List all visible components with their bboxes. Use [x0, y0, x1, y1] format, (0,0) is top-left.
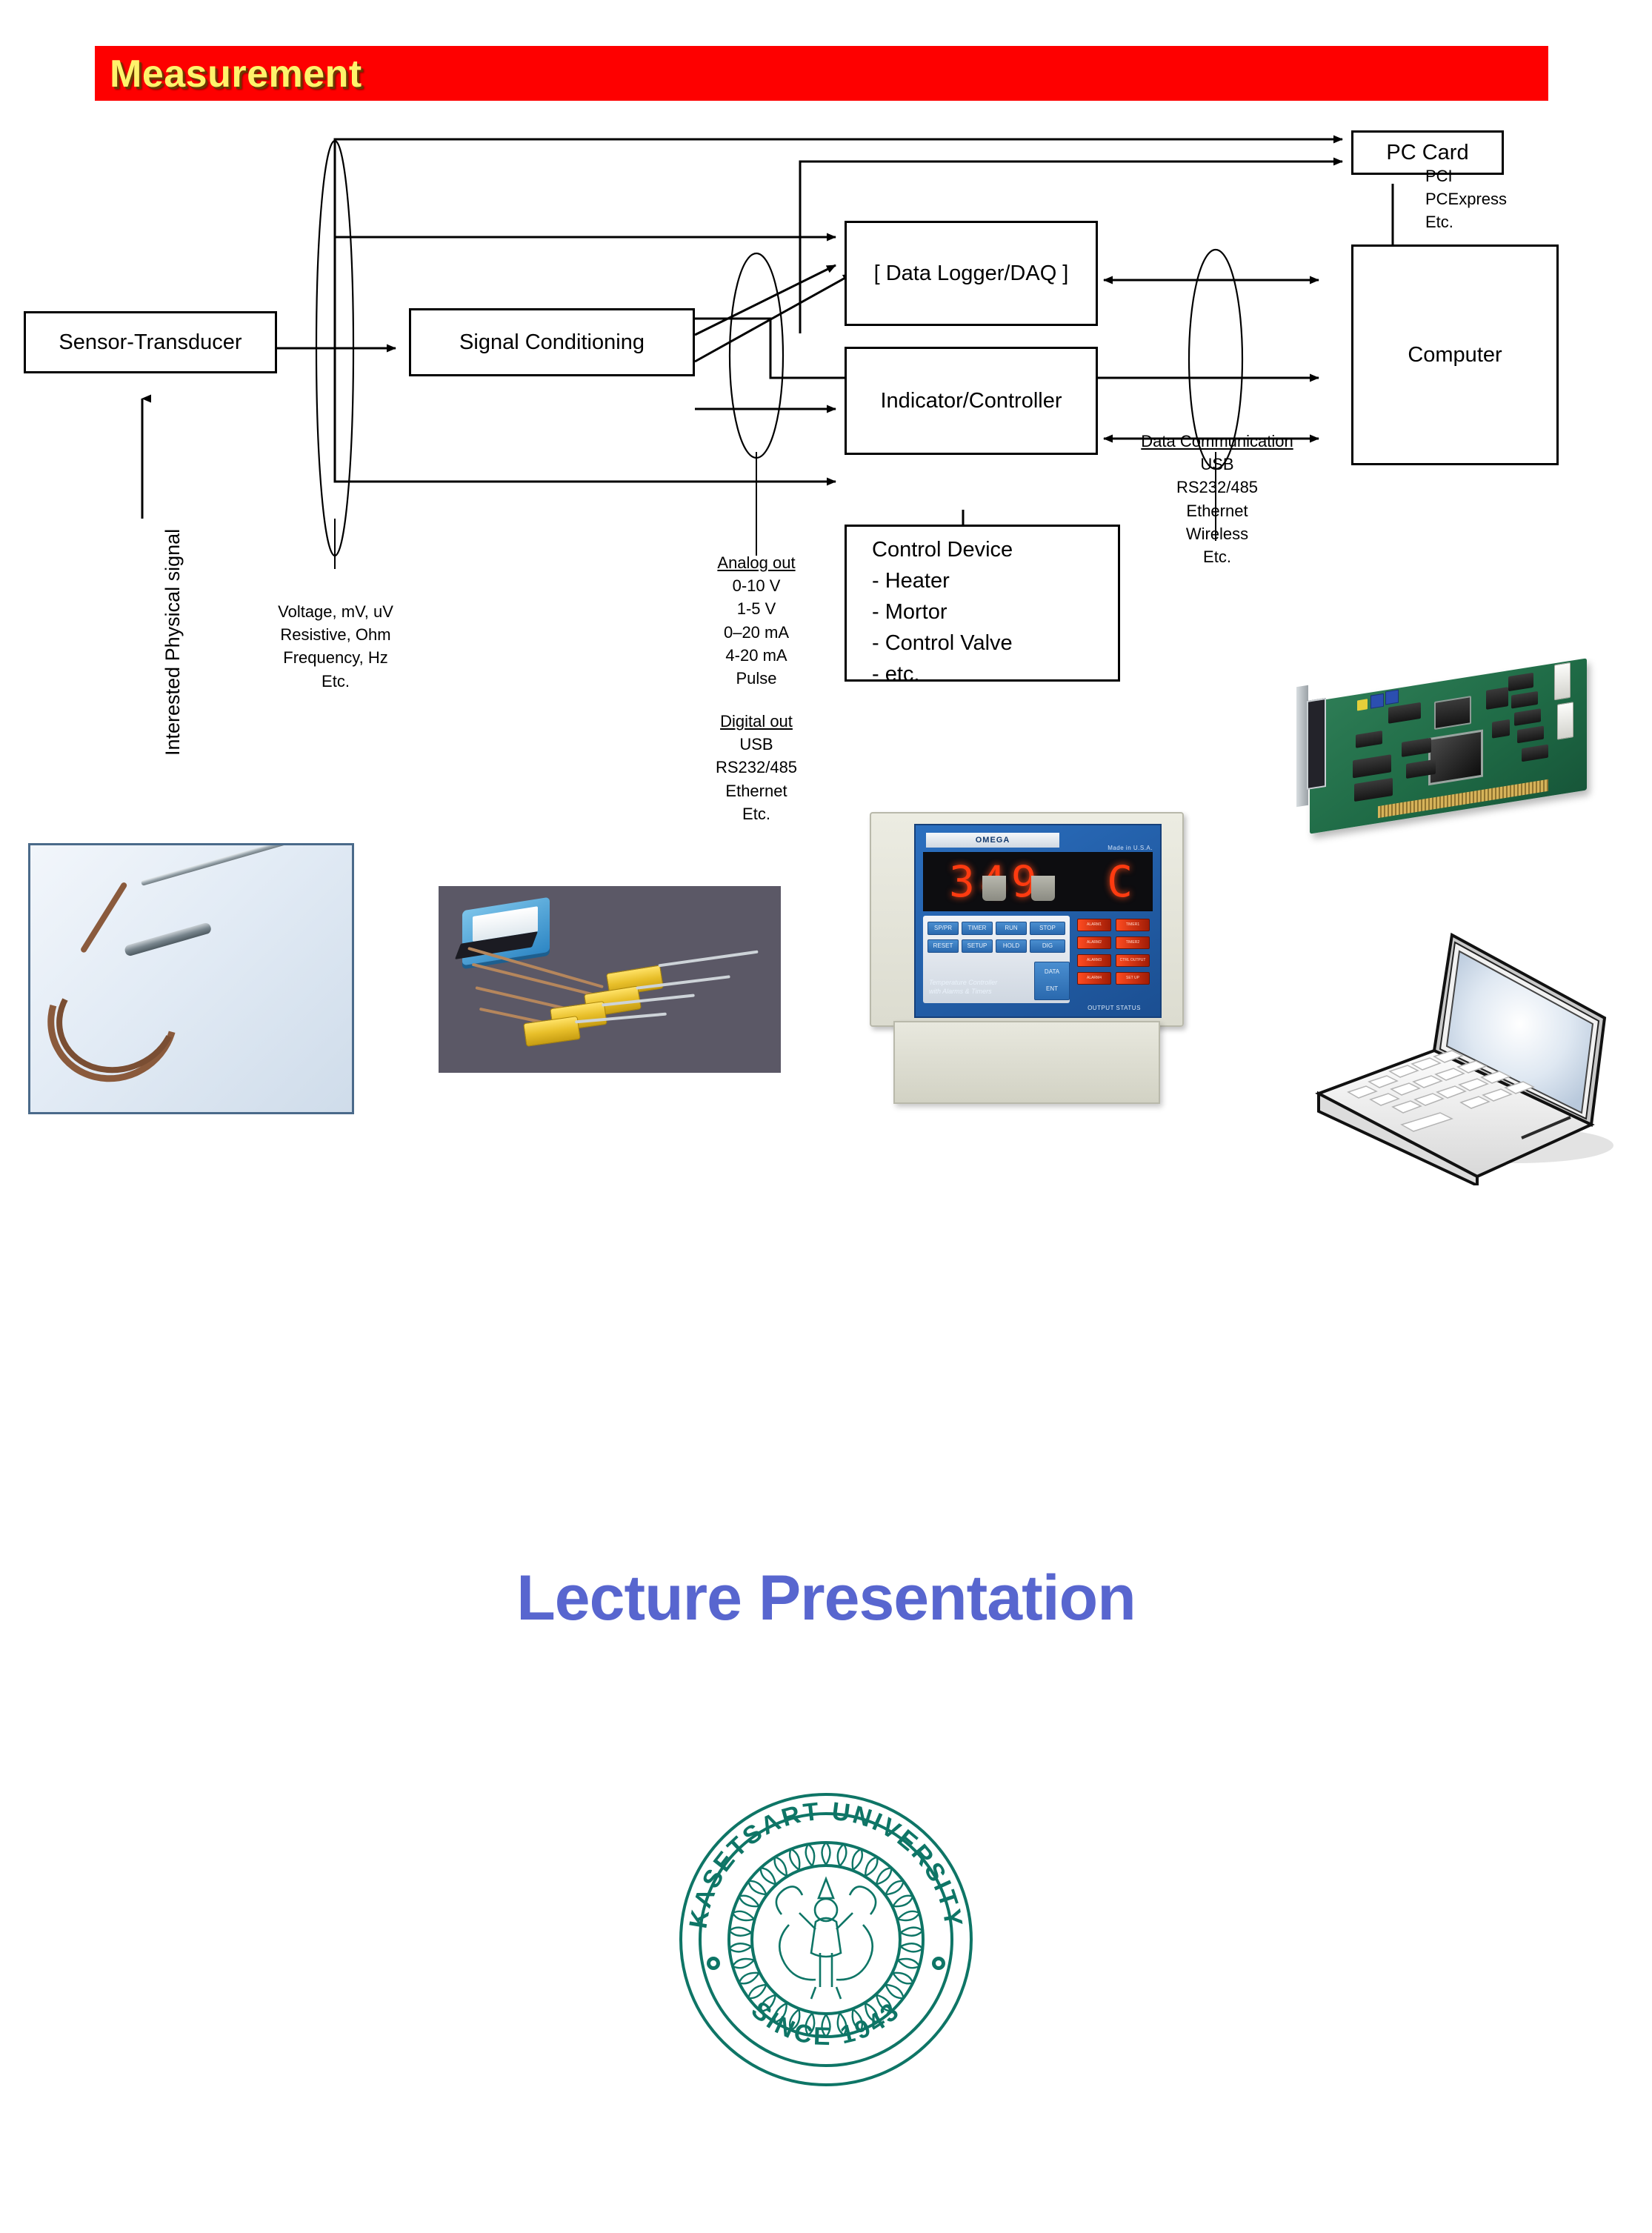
controller-keypad[interactable]: SP/PR TIMER RUN STOP RESET SETUP HOLD DI… — [923, 916, 1070, 1003]
control-device-title: Control Device — [872, 534, 1118, 565]
key-data-label: DATA — [1035, 968, 1069, 975]
control-device-item-0: - Heater — [872, 565, 1118, 596]
probe-grip — [124, 922, 212, 956]
analog-out-heading: Analog out — [664, 551, 849, 574]
key-run[interactable]: RUN — [996, 922, 1027, 935]
pci-chip-10 — [1511, 691, 1538, 709]
lecture-presentation-title: Lecture Presentation — [0, 1562, 1652, 1635]
control-device-item-1: - Mortor — [872, 596, 1118, 628]
pci-chip-2 — [1356, 731, 1382, 748]
pci-chip-3 — [1353, 754, 1391, 778]
controller-subtitle: Temperature Controller with Alarms & Tim… — [929, 978, 1033, 996]
pc-card-bus-line-2: Etc. — [1425, 210, 1603, 233]
kasetsart-university-seal: KASETSART UNIVERSITY SINCE 1943 — [678, 1791, 974, 2088]
temperature-controller-photo: OMEGA Made in U.S.A. 349 C SP/PR TIMER R… — [858, 799, 1206, 1123]
thermocouple-probe-photo — [28, 843, 354, 1114]
block-indicator-controller-label: Indicator/Controller — [881, 389, 1062, 413]
pci-circuit-board — [1310, 658, 1587, 833]
key-ent-label: ENT — [1035, 985, 1069, 992]
pci-chip-9 — [1508, 673, 1533, 691]
block-data-logger[interactable]: [ Data Logger/DAQ ] — [845, 221, 1098, 326]
block-signal-conditioning[interactable]: Signal Conditioning — [409, 308, 695, 376]
sensor-module — [462, 897, 550, 966]
controller-subtitle-line1: Temperature Controller — [929, 978, 1033, 987]
pci-chip-5 — [1402, 738, 1431, 757]
pci-chip-4 — [1354, 778, 1393, 802]
pc-card-bus-line-0: PCI — [1425, 164, 1603, 187]
output-status-label: OUTPUT STATUS — [1077, 1005, 1151, 1011]
display-unit: C — [1107, 857, 1133, 906]
probe-shaft — [141, 843, 324, 886]
block-indicator-controller[interactable]: Indicator/Controller — [845, 347, 1098, 455]
label-analog-out: Analog out 0-10 V 1-5 V 0–20 mA 4-20 mA … — [664, 551, 849, 690]
omega-logo: OMEGA — [926, 833, 1059, 848]
output-status-panel: ALARM1 ALARM2 ALARM3 ALARM4 TIMER1 TIMER… — [1077, 916, 1151, 1003]
pci-white-connector-1 — [1554, 662, 1571, 700]
led-timer2: TIMER2 — [1116, 936, 1150, 949]
key-hold[interactable]: HOLD — [996, 939, 1027, 953]
analog-out-line-2: 0–20 mA — [664, 621, 849, 644]
block-computer[interactable]: Computer — [1351, 244, 1559, 465]
probe-lead — [80, 882, 128, 954]
control-device-item-3: - etc. — [872, 659, 1118, 690]
controller-enclosure: OMEGA Made in U.S.A. 349 C SP/PR TIMER R… — [870, 812, 1184, 1027]
pci-chip-1 — [1388, 702, 1421, 724]
seal-inner-ring-3 — [752, 1866, 900, 2014]
block-data-logger-label: [ Data Logger/DAQ ] — [874, 262, 1069, 286]
data-communication-line-1: RS232/485 — [1108, 476, 1326, 499]
label-data-communication: Data Communication USB RS232/485 Etherne… — [1108, 430, 1326, 568]
tc-silver-wire-1 — [658, 951, 758, 968]
data-communication-line-3: Wireless — [1108, 522, 1326, 545]
laptop-clipart — [1295, 919, 1621, 1185]
cable-gland-1 — [982, 876, 1006, 901]
sensor-output-line-1: Resistive, Ohm — [221, 623, 450, 646]
pc-card-bus-line-1: PCExpress — [1425, 187, 1603, 210]
analog-out-line-4: Pulse — [664, 667, 849, 690]
cable-gland-2 — [1031, 876, 1055, 901]
key-timer[interactable]: TIMER — [962, 922, 993, 935]
label-sensor-output: Voltage, mV, uV Resistive, Ohm Frequency… — [221, 600, 450, 693]
pci-main-processor-chip — [1428, 730, 1483, 786]
key-setup[interactable]: SETUP — [962, 939, 993, 953]
block-sensor-transducer[interactable]: Sensor-Transducer — [24, 311, 277, 373]
pci-white-connector-2 — [1557, 702, 1573, 739]
seal-central-emblem — [776, 1879, 876, 1999]
key-reset[interactable]: RESET — [927, 939, 959, 953]
block-sensor-transducer-label: Sensor-Transducer — [59, 330, 242, 355]
led-alarm1: ALARM1 — [1077, 919, 1111, 931]
pci-chip-14 — [1492, 719, 1510, 739]
seal-bottom-text: SINCE 1943 — [746, 1996, 906, 2051]
key-dig[interactable]: DIG — [1030, 939, 1065, 953]
digital-out-line-3: Etc. — [664, 802, 849, 825]
data-communication-line-0: USB — [1108, 453, 1326, 476]
block-signal-conditioning-label: Signal Conditioning — [459, 330, 645, 355]
pci-chip-12 — [1517, 726, 1544, 744]
pci-trimpot-2 — [1385, 690, 1399, 705]
thermocouple-connectors-photo — [439, 886, 781, 1073]
controller-lower-housing — [893, 1021, 1160, 1104]
pci-trimpot-1 — [1370, 693, 1384, 709]
data-communication-line-2: Ethernet — [1108, 499, 1326, 522]
controller-front-panel: OMEGA Made in U.S.A. 349 C SP/PR TIMER R… — [914, 824, 1162, 1018]
led-ctrl-output: CTRL OUTPUT — [1116, 954, 1150, 967]
label-digital-out: Digital out USB RS232/485 Ethernet Etc. — [664, 710, 849, 825]
made-in-label: Made in U.S.A. — [1108, 845, 1153, 851]
pci-chip-8 — [1486, 687, 1508, 710]
analog-out-line-1: 1-5 V — [664, 597, 849, 620]
pci-scsi-connector — [1307, 698, 1326, 790]
key-sp-pr[interactable]: SP/PR — [927, 922, 959, 935]
data-communication-line-4: Etc. — [1108, 545, 1326, 568]
analog-out-line-0: 0-10 V — [664, 574, 849, 597]
label-physical-signal: Interested Physical signal — [161, 529, 184, 756]
label-pc-card-bus: PCI PCExpress Etc. — [1425, 164, 1603, 234]
sensor-output-line-2: Frequency, Hz — [221, 646, 450, 669]
led-alarm3: ALARM3 — [1077, 954, 1111, 967]
sensor-output-line-0: Voltage, mV, uV — [221, 600, 450, 623]
led-timer1: TIMER1 — [1116, 919, 1150, 931]
probe-cable-coil-inner — [41, 946, 193, 1090]
sensor-output-line-3: Etc. — [221, 670, 450, 693]
led-alarm2: ALARM2 — [1077, 936, 1111, 949]
analog-out-line-3: 4-20 mA — [664, 644, 849, 667]
block-computer-label: Computer — [1408, 343, 1502, 367]
pci-daq-card-photo — [1289, 658, 1615, 873]
pci-chip-11 — [1514, 708, 1541, 726]
key-data-enter[interactable]: DATA ENT — [1034, 962, 1070, 1000]
digital-out-line-1: RS232/485 — [664, 756, 849, 779]
digital-out-heading: Digital out — [664, 710, 849, 733]
controller-subtitle-line2: with Alarms & Timers — [929, 987, 1033, 996]
control-device-item-2: - Control Valve — [872, 628, 1118, 659]
pci-chip-7 — [1434, 696, 1471, 730]
pci-chip-13 — [1522, 745, 1548, 762]
block-pc-card-label: PC Card — [1386, 141, 1468, 165]
digital-out-line-2: Ethernet — [664, 779, 849, 802]
pci-jumper — [1357, 699, 1368, 710]
led-alarm4: ALARM4 — [1077, 972, 1111, 985]
digital-out-line-0: USB — [664, 733, 849, 756]
block-control-device[interactable]: Control Device - Heater - Mortor - Contr… — [845, 525, 1120, 682]
led-set-up: SET UP — [1116, 972, 1150, 985]
data-communication-heading: Data Communication — [1108, 430, 1326, 453]
page-title: Measurement — [110, 50, 776, 98]
key-stop[interactable]: STOP — [1030, 922, 1065, 935]
